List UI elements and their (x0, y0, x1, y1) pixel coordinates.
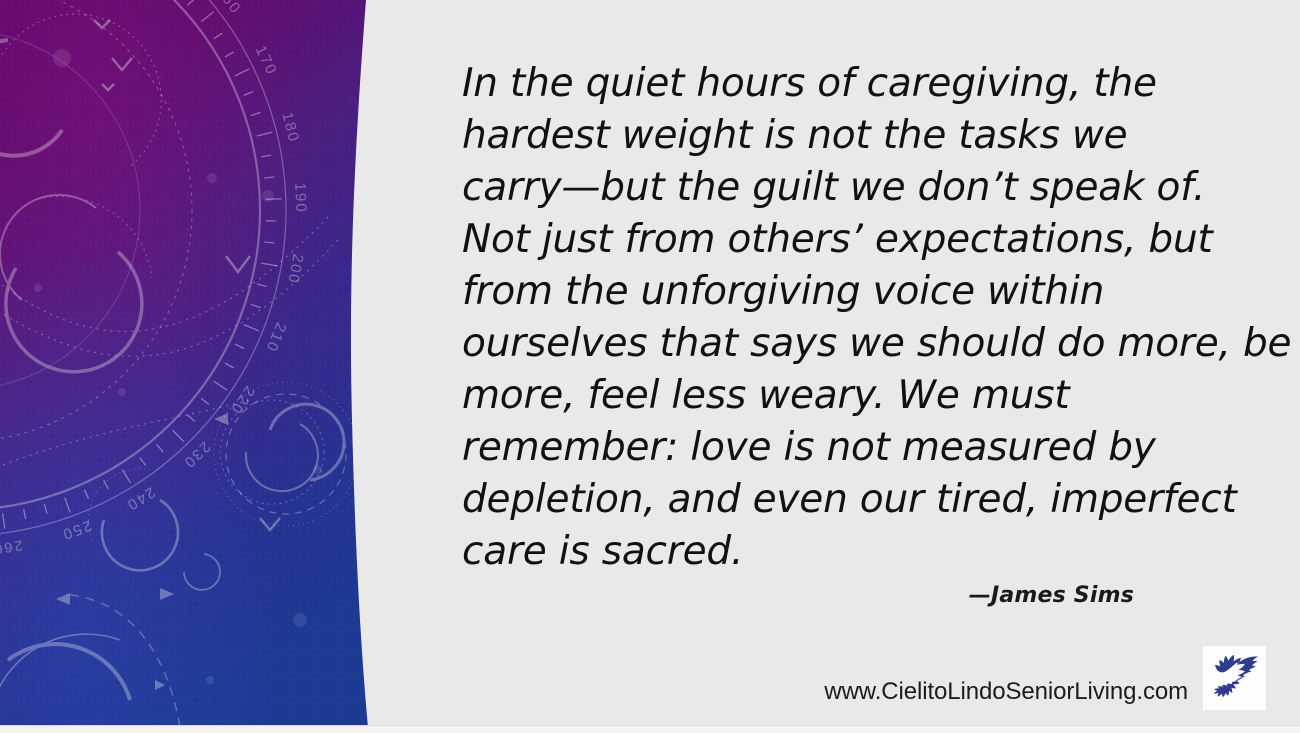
quote-line: Not just from others’ expectations, but (462, 214, 1252, 266)
logo-container (1203, 646, 1266, 710)
quote-text: In the quiet hours of caregiving, the ha… (462, 58, 1252, 578)
quote-line: depletion, and even our tired, imperfect (462, 474, 1252, 526)
quote-line: ourselves that says we should do more, b… (462, 318, 1252, 370)
quote-line: In the quiet hours of caregiving, the (462, 58, 1252, 110)
quote-attribution: —James Sims (462, 583, 1134, 608)
quote-line: from the unforgiving voice within (462, 266, 1252, 318)
quote-line: more, feel less weary. We must (462, 370, 1252, 422)
website-url: www.CielitoLindoSeniorLiving.com (600, 678, 1188, 706)
quote-line: hardest weight is not the tasks we (462, 110, 1252, 162)
dial-label: 190 (291, 182, 309, 214)
bottom-divider-strip (0, 725, 1300, 733)
quote-line: care is sacred. (462, 526, 1252, 578)
dove-logo-icon (1209, 653, 1261, 703)
decorative-side-panel: 140 150 160 170 180 190 200 210 220 230 … (0, 0, 380, 727)
dial-label: 260 (0, 537, 24, 558)
compass-dial-graphic: 140 150 160 170 180 190 200 210 220 230 … (0, 0, 380, 727)
quote-slide: 140 150 160 170 180 190 200 210 220 230 … (0, 0, 1300, 733)
quote-line: remember: love is not measured by (462, 422, 1252, 474)
quote-line: carry—but the guilt we don’t speak of. (462, 162, 1252, 214)
